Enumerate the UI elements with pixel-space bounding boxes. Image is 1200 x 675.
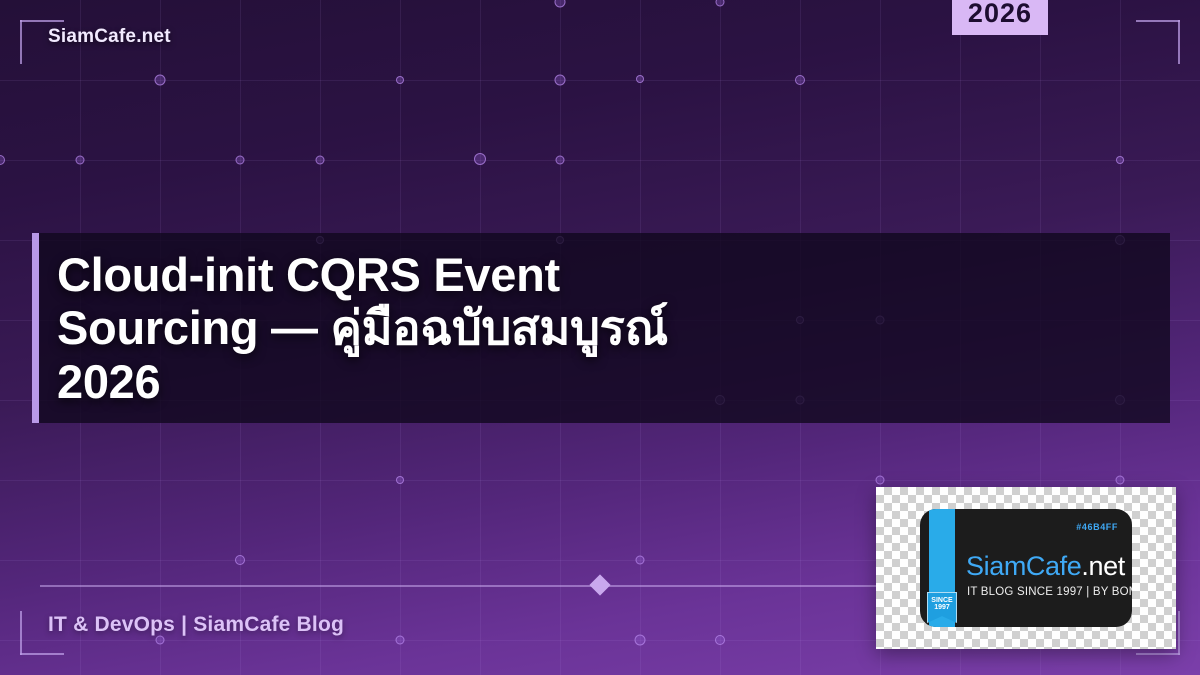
network-node [636,556,645,565]
network-node [716,0,725,7]
network-node [235,555,245,565]
page-title: Cloud-init CQRS Event Sourcing — คู่มือฉ… [32,248,688,409]
logo-card: SINCE 1997 #46B4FF SiamCafe.net IT BLOG … [876,487,1176,649]
hero-banner: SiamCafe.net 2026 Cloud-init CQRS Event … [0,0,1200,675]
logo-wordmark-main: SiamCafe [966,551,1081,581]
network-node [635,635,646,646]
network-node [236,156,245,165]
ribbon-line-1: SINCE [931,597,952,604]
network-node [396,76,404,84]
title-accent-bar [32,233,39,423]
grid-line-horizontal [0,480,1200,481]
network-node [556,156,565,165]
title-card: Cloud-init CQRS Event Sourcing — คู่มือฉ… [32,233,1170,423]
logo-hex-label: #46B4FF [1076,522,1118,532]
divider-diamond-icon [589,574,610,595]
network-node [0,155,5,165]
network-node [396,476,404,484]
network-node [795,75,805,85]
brand-name: SiamCafe.net [48,26,171,48]
network-node [1116,156,1124,164]
corner-bracket-top-right [1136,20,1180,64]
network-node [316,156,325,165]
footer-tagline: IT & DevOps | SiamCafe Blog [48,613,344,637]
network-node [1116,476,1125,485]
grid-line-horizontal [0,80,1200,81]
network-node [555,0,566,8]
network-node [636,75,644,83]
network-node [555,75,566,86]
logo-wordmark-tld: .net [1081,551,1124,581]
logo-wordmark: SiamCafe.net [966,551,1125,582]
logo-tagline: IT BLOG SINCE 1997 | BY BOM [967,586,1132,598]
logo-badge: SINCE 1997 #46B4FF SiamCafe.net IT BLOG … [920,509,1132,627]
year-badge: 2026 [952,0,1048,35]
network-node [76,156,85,165]
grid-line-horizontal [0,160,1200,161]
ribbon-line-2: 1997 [934,604,950,611]
network-node [715,635,725,645]
network-node [396,636,405,645]
network-node [876,476,885,485]
network-node [474,153,486,165]
network-node [155,75,166,86]
